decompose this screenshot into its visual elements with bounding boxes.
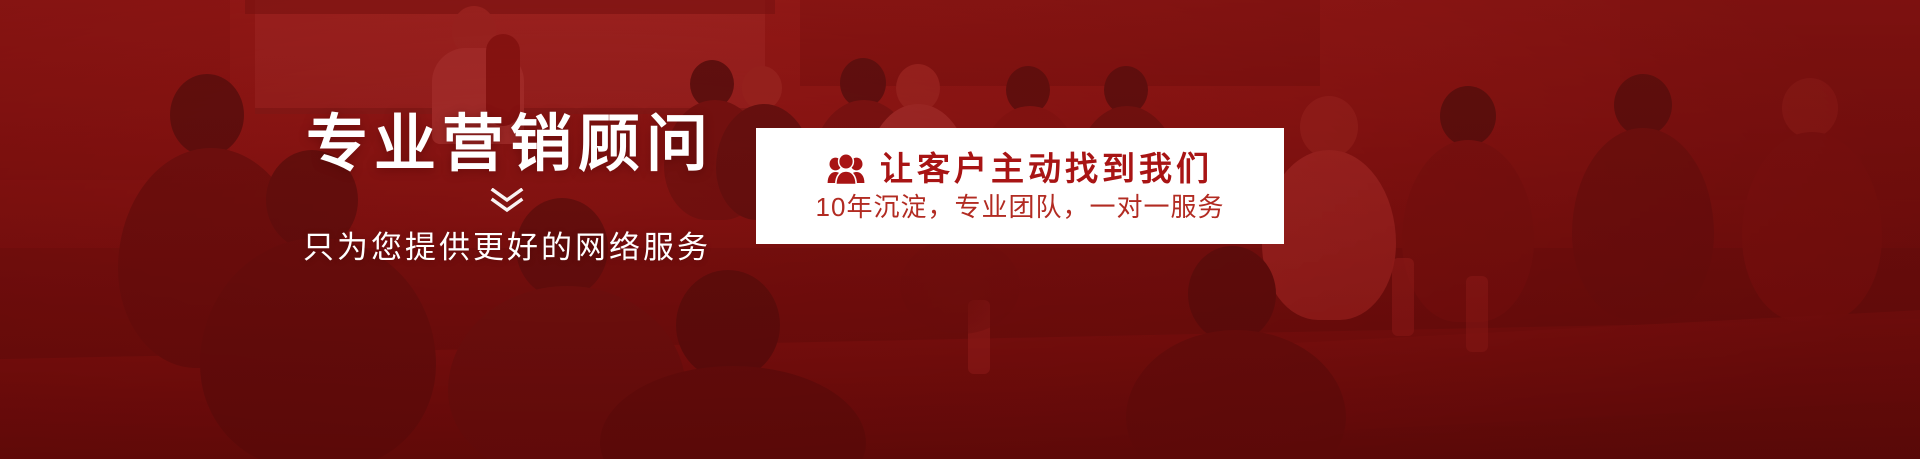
card-title: 让客户主动找到我们 xyxy=(880,152,1213,185)
left-text-block: 专业营销顾问 只为您提供更好的网络服务 xyxy=(292,112,722,267)
highlight-card: 让客户主动找到我们 10年沉淀，专业团队，一对一服务 xyxy=(756,128,1284,244)
hero-banner: 专业营销顾问 只为您提供更好的网络服务 xyxy=(0,0,1920,459)
card-title-row: 让客户主动找到我们 xyxy=(827,152,1213,185)
banner-content: 专业营销顾问 只为您提供更好的网络服务 xyxy=(0,0,1920,459)
banner-headline: 专业营销顾问 xyxy=(292,112,722,178)
chevron-double-down-icon xyxy=(490,188,524,214)
people-group-icon xyxy=(827,153,865,185)
banner-subheadline: 只为您提供更好的网络服务 xyxy=(292,222,722,267)
card-subtitle: 10年沉淀，专业团队，一对一服务 xyxy=(816,194,1225,220)
